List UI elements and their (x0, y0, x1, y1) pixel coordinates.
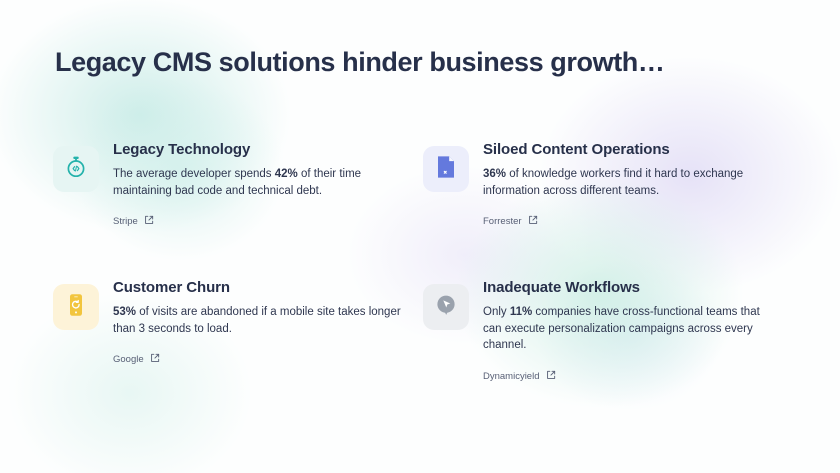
card-source-label: Forrester (483, 216, 522, 227)
external-link-icon (150, 353, 160, 366)
card-title: Siloed Content Operations (483, 141, 793, 158)
card-text-before: Only (483, 306, 510, 318)
card-customer-churn: Customer Churn 53% of visits are abandon… (53, 278, 423, 416)
card-statistic-text: 36% of knowledge workers find it hard to… (483, 166, 773, 199)
card-stat-value: 42% (275, 168, 298, 180)
card-icon-container (423, 284, 469, 330)
card-source-link[interactable]: Forrester (483, 215, 538, 228)
stopwatch-code-icon (63, 154, 89, 185)
card-inadequate-workflows: Inadequate Workflows Only 11% companies … (423, 278, 793, 416)
page-title: Legacy CMS solutions hinder business gro… (55, 47, 664, 78)
external-link-icon (546, 370, 556, 383)
card-stat-value: 53% (113, 306, 136, 318)
card-statistic-text: The average developer spends 42% of thei… (113, 166, 403, 199)
speech-bubble-cursor-icon (433, 292, 459, 323)
external-link-icon (144, 215, 154, 228)
card-icon-container (423, 146, 469, 192)
external-link-icon (528, 215, 538, 228)
card-icon-container (53, 146, 99, 192)
card-statistic-text: 53% of visits are abandoned if a mobile … (113, 304, 403, 337)
card-stat-value: 36% (483, 168, 506, 180)
card-icon-container (53, 284, 99, 330)
card-title: Legacy Technology (113, 141, 423, 158)
card-source-link[interactable]: Google (113, 353, 160, 366)
card-text-after: of knowledge workers find it hard to exc… (483, 168, 743, 197)
card-title: Inadequate Workflows (483, 279, 793, 296)
slide-canvas: Legacy CMS solutions hinder business gro… (0, 0, 840, 473)
card-body: Siloed Content Operations 36% of knowled… (483, 140, 793, 229)
card-source-link[interactable]: Dynamicyield (483, 370, 556, 383)
card-statistic-text: Only 11% companies have cross-functional… (483, 304, 773, 354)
card-source-link[interactable]: Stripe (113, 215, 154, 228)
mobile-refresh-icon (65, 292, 87, 323)
card-title: Customer Churn (113, 279, 423, 296)
card-body: Customer Churn 53% of visits are abandon… (113, 278, 423, 367)
card-legacy-technology: Legacy Technology The average developer … (53, 140, 423, 278)
pain-point-card-grid: Legacy Technology The average developer … (53, 140, 793, 416)
card-text-after: of visits are abandoned if a mobile site… (113, 306, 401, 335)
card-body: Inadequate Workflows Only 11% companies … (483, 278, 793, 384)
card-source-label: Dynamicyield (483, 371, 540, 382)
document-file-icon (434, 154, 458, 185)
card-source-label: Google (113, 354, 144, 365)
card-source-label: Stripe (113, 216, 138, 227)
card-body: Legacy Technology The average developer … (113, 140, 423, 229)
card-siloed-content-operations: Siloed Content Operations 36% of knowled… (423, 140, 793, 278)
card-stat-value: 11% (510, 306, 532, 318)
card-text-before: The average developer spends (113, 168, 275, 180)
